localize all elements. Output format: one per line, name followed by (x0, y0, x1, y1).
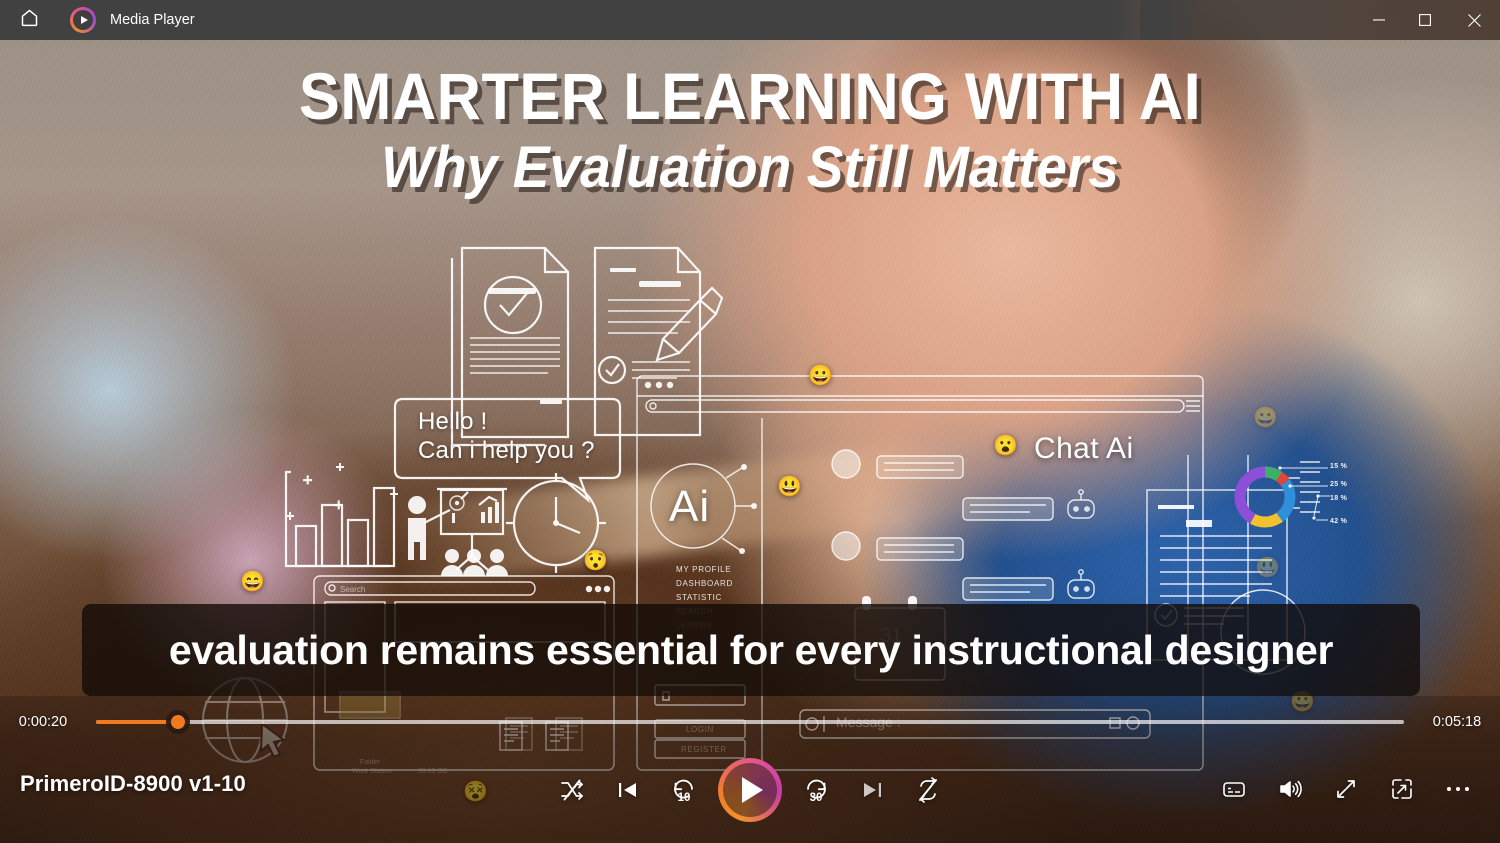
next-track-icon (860, 778, 884, 802)
fullscreen-button[interactable] (1318, 758, 1374, 820)
miniplayer-icon (1390, 777, 1414, 801)
more-options-icon (1447, 787, 1470, 792)
video-title-line1: SMARTER LEARNING WITH AI (53, 58, 1448, 134)
chat-sidebar-item-2: STATISTIC (676, 593, 722, 602)
titlebar-left: Media Player (0, 0, 195, 40)
ai-brand-mark: Ai (669, 482, 710, 532)
donut-label-1: 25 % (1330, 481, 1347, 488)
previous-button[interactable] (600, 759, 656, 821)
captions-button[interactable] (1206, 758, 1262, 820)
emoji-sticker-1: 😮 (993, 436, 1018, 456)
miniplayer-button[interactable] (1374, 758, 1430, 820)
chat-ai-heading: Chat Ai (1034, 432, 1134, 466)
rewind-10-button[interactable]: 10 (656, 759, 712, 821)
time-total: 0:05:18 (1414, 714, 1500, 730)
maximize-icon (1419, 14, 1431, 26)
play-icon (723, 763, 777, 817)
donut-label-3: 42 % (1330, 518, 1347, 525)
caption-text: evaluation remains essential for every i… (169, 627, 1333, 674)
emoji-sticker-6: 😀 (1253, 408, 1278, 428)
donut-label-2: 18 % (1330, 495, 1347, 502)
shuffle-button[interactable] (544, 759, 600, 821)
repeat-off-icon (915, 777, 941, 803)
home-button[interactable] (0, 0, 58, 40)
next-button[interactable] (844, 759, 900, 821)
minimize-button[interactable] (1356, 0, 1402, 40)
home-icon (19, 7, 40, 33)
speech-bubble-line1: Hello ! (418, 407, 487, 436)
transport-controls: 10 30 (544, 758, 956, 822)
captions-icon (1222, 777, 1246, 801)
donut-leader-lines (1270, 458, 1390, 568)
fullscreen-icon (1334, 777, 1358, 801)
seek-row: 0:00:20 0:05:18 (0, 702, 1500, 742)
forward-30-button[interactable]: 30 (788, 759, 844, 821)
play-button[interactable] (718, 758, 782, 822)
seek-bar[interactable] (86, 707, 1414, 737)
seek-thumb[interactable] (166, 710, 190, 734)
shuffle-off-icon (559, 777, 585, 803)
maximize-button[interactable] (1402, 0, 1448, 40)
minimize-icon (1373, 14, 1385, 26)
close-icon (1468, 14, 1481, 27)
volume-button[interactable] (1262, 758, 1318, 820)
emoji-sticker-0: 😀 (808, 366, 833, 386)
media-player-window: 15 % 25 % 18 % 42 % (0, 0, 1500, 843)
play-logo-icon (70, 7, 96, 33)
forward-30-icon (803, 777, 829, 803)
more-options-button[interactable] (1430, 758, 1486, 820)
time-elapsed: 0:00:20 (0, 714, 86, 730)
video-title-line2: Why Evaluation Still Matters (38, 134, 1463, 201)
donut-label-0: 15 % (1330, 463, 1347, 470)
speech-bubble-line2: Can i help you ? (418, 436, 595, 465)
chat-sidebar-item-0: MY PROFILE (676, 565, 731, 574)
secondary-controls (1206, 758, 1486, 820)
repeat-button[interactable] (900, 759, 956, 821)
caption-bar: evaluation remains essential for every i… (82, 604, 1420, 696)
app-title: Media Player (110, 12, 195, 28)
volume-icon (1278, 777, 1302, 801)
player-controls: 0:00:20 0:05:18 PrimeroID-8900 v1-10 (0, 696, 1500, 843)
previous-track-icon (616, 778, 640, 802)
chat-sidebar-item-1: DASHBOARD (676, 579, 733, 588)
emoji-sticker-3: 😯 (583, 551, 608, 571)
search-placeholder-label: Search (340, 585, 365, 594)
emoji-sticker-4: 😄 (240, 572, 265, 592)
emoji-sticker-7: 😃 (1255, 558, 1280, 578)
seek-track[interactable] (96, 720, 1404, 724)
rewind-10-icon (671, 777, 697, 803)
close-button[interactable] (1448, 0, 1500, 40)
media-title: PrimeroID-8900 v1-10 (20, 771, 246, 797)
title-bar: Media Player (0, 0, 1500, 40)
emoji-sticker-2: 😃 (777, 477, 802, 497)
